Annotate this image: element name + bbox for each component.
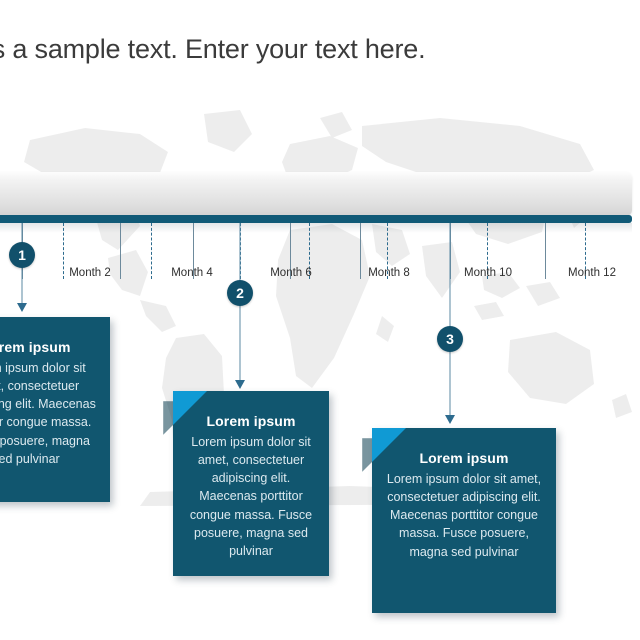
month-label-5: Month 10 xyxy=(464,267,512,279)
slide-canvas: is a sample text. Enter your text here. … xyxy=(0,0,640,640)
content-card-1[interactable]: Lorem ipsumLorem ipsum dolor sit amet, c… xyxy=(0,317,110,502)
timeline-bar-shadow xyxy=(0,223,632,233)
card-title: Lorem ipsum xyxy=(386,450,542,466)
timeline-marker-3[interactable]: 3 xyxy=(437,223,463,427)
marker-arrowhead-icon xyxy=(235,380,245,389)
card-body-text: Lorem ipsum dolor sit amet, consectetuer… xyxy=(187,433,315,560)
timeline-bar-accent-strip xyxy=(0,215,632,223)
timeline-marker-1[interactable]: 1 xyxy=(9,223,35,315)
timeline-bar xyxy=(0,172,632,216)
card-body-text: Lorem ipsum dolor sit amet, consectetuer… xyxy=(386,470,542,561)
timeline-tick-2 xyxy=(120,223,121,279)
timeline-marker-2[interactable]: 2 xyxy=(227,223,253,392)
card-body-text: Lorem ipsum dolor sit amet, consectetuer… xyxy=(0,359,96,468)
marker-number-badge-2[interactable]: 2 xyxy=(227,280,253,306)
card-title: Lorem ipsum xyxy=(187,413,315,429)
timeline-tick-3 xyxy=(151,223,152,279)
card-title: Lorem ipsum xyxy=(0,339,96,355)
marker-arrowhead-icon xyxy=(445,415,455,424)
card-content: Lorem ipsumLorem ipsum dolor sit amet, c… xyxy=(0,317,110,484)
month-label-6: Month 12 xyxy=(568,267,616,279)
timeline-tick-1 xyxy=(63,223,64,279)
month-label-3: Month 6 xyxy=(270,267,312,279)
card-content: Lorem ipsumLorem ipsum dolor sit amet, c… xyxy=(173,391,329,576)
timeline-tick-12 xyxy=(545,223,546,279)
month-label-1: Month 2 xyxy=(69,267,111,279)
marker-arrowhead-icon xyxy=(17,303,27,312)
month-label-4: Month 8 xyxy=(368,267,410,279)
content-card-3[interactable]: Lorem ipsumLorem ipsum dolor sit amet, c… xyxy=(372,428,556,613)
page-title: is a sample text. Enter your text here. xyxy=(0,34,640,65)
marker-connector-line xyxy=(450,223,451,415)
month-label-2: Month 4 xyxy=(171,267,213,279)
content-card-2[interactable]: Lorem ipsumLorem ipsum dolor sit amet, c… xyxy=(173,391,329,576)
timeline-tick-8 xyxy=(360,223,361,279)
marker-number-badge-3[interactable]: 3 xyxy=(437,326,463,352)
card-content: Lorem ipsumLorem ipsum dolor sit amet, c… xyxy=(372,428,556,577)
marker-number-badge-1[interactable]: 1 xyxy=(9,242,35,268)
